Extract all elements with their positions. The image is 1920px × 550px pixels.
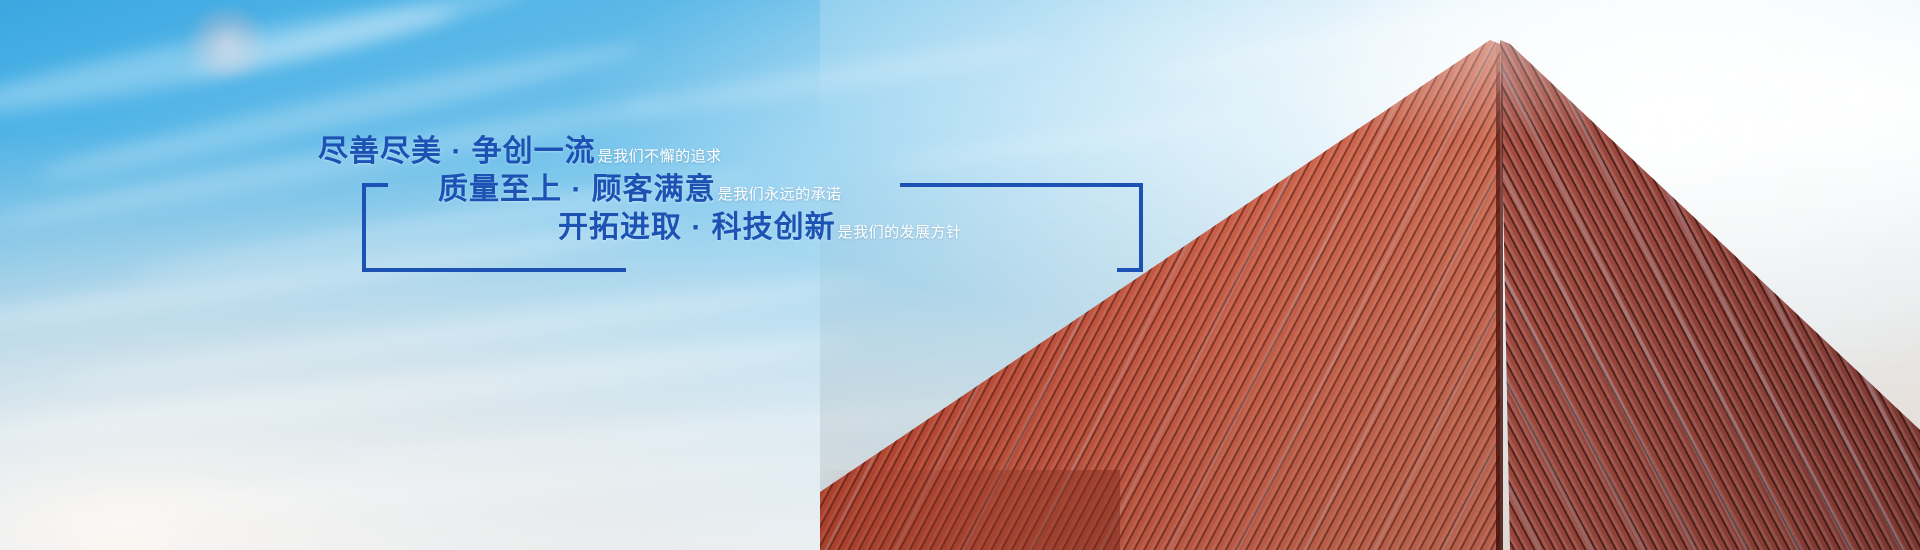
slogan-tail-3: 是我们的发展方针 xyxy=(838,221,962,242)
building-lower-left-edge xyxy=(820,470,1120,550)
hero-banner: 尽善尽美 · 争创一流 是我们不懈的追求 质量至上 · 顾客满意 是我们永远的承… xyxy=(0,0,1920,550)
slogan-line-3: 开拓进取 · 科技创新 是我们的发展方针 xyxy=(558,202,962,246)
slogan-tail-1: 是我们不懈的追求 xyxy=(598,145,722,166)
slogan-headline-3: 开拓进取 · 科技创新 xyxy=(558,202,836,246)
slogan-tail-2: 是我们永远的承诺 xyxy=(718,183,842,204)
slogan-text-block: 尽善尽美 · 争创一流 是我们不懈的追求 质量至上 · 顾客满意 是我们永远的承… xyxy=(300,126,1160,286)
